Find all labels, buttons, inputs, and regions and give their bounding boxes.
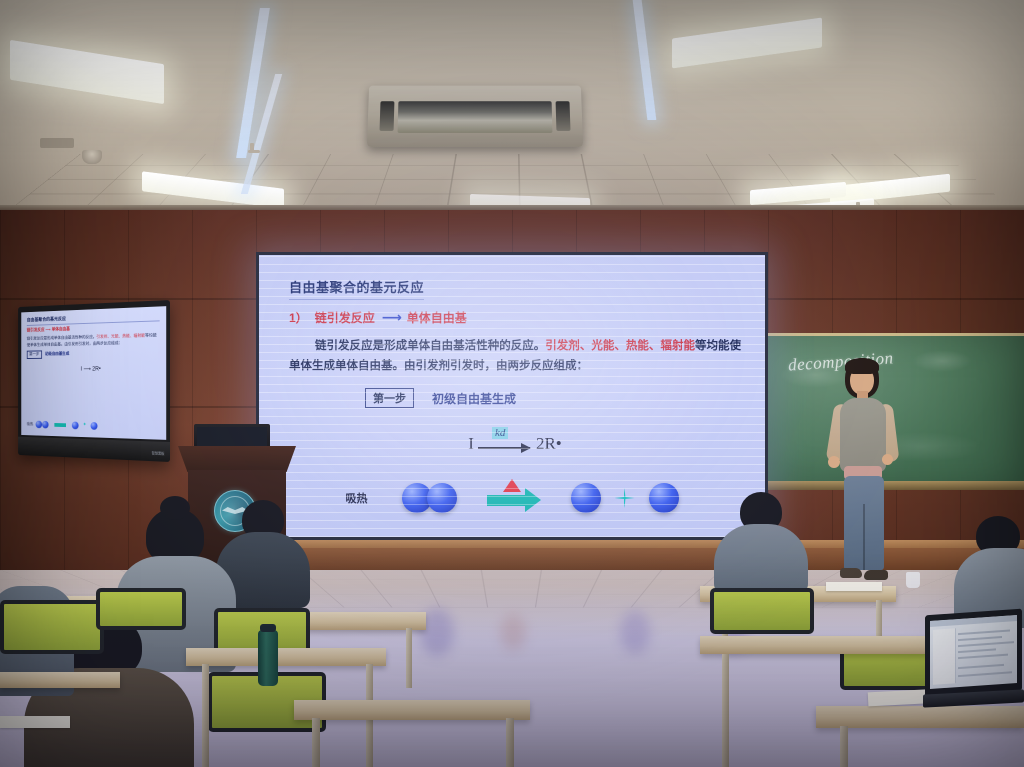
body-highlight-radiation-energy: 辐射能 xyxy=(660,340,695,352)
chair-back xyxy=(96,588,186,630)
ceiling-light-panel xyxy=(672,17,822,68)
sparkle-icon: ✦ xyxy=(83,422,87,429)
classroom-chair[interactable] xyxy=(0,600,104,654)
slide-step-row: 第一步 初级自由基生成 xyxy=(289,388,741,408)
laptop-content-line xyxy=(958,654,1008,659)
chair-back xyxy=(710,588,814,634)
hair-fringe xyxy=(845,358,879,374)
sweater-vest xyxy=(840,398,886,472)
student-desk xyxy=(816,706,1024,728)
teal-arrow-icon xyxy=(54,423,66,427)
subheading-number: 1） xyxy=(289,309,308,326)
lecturer xyxy=(826,358,902,590)
ac-side-vent xyxy=(556,101,571,131)
paper-sheet xyxy=(0,716,70,728)
torso xyxy=(714,524,808,594)
sprinkler-head xyxy=(248,150,260,153)
monitor-step-title: 初级自由基生成 xyxy=(45,351,69,357)
floor-reflection xyxy=(500,614,526,650)
desk-leg xyxy=(202,664,209,767)
molecule-sphere-icon xyxy=(42,421,49,429)
left-hand xyxy=(828,456,840,468)
thermos-cap xyxy=(260,624,276,632)
slide-animation-strip: 吸热 xyxy=(259,481,765,515)
molecule-sphere-icon xyxy=(427,483,457,513)
laptop-screen[interactable] xyxy=(930,615,1017,689)
body-text-a: 链引发反应是形成单体自由基活性种的反应。 xyxy=(315,340,545,352)
chair-back xyxy=(0,600,104,654)
laptop-content-line xyxy=(958,629,1010,635)
podium-monitor-screen xyxy=(197,427,267,449)
projection-screen: 自由基聚合的基元反应 1） 链引发反应 ⟶ 单体自由基 链引发反应是形成单体自由… xyxy=(256,252,768,540)
desk-leg xyxy=(406,628,412,688)
slide-body-paragraph: 链引发反应是形成单体自由基活性种的反应。引发剂、光能、热能、辐射能等均能使单体生… xyxy=(289,336,741,376)
body-separator: 、 xyxy=(614,340,626,352)
subheading-left: 链引发反应 xyxy=(315,309,375,326)
ac-side-vent xyxy=(380,101,395,131)
monitor-step-row: 第一步 初级自由基生成 xyxy=(27,348,160,358)
teal-arrow-icon xyxy=(487,495,527,506)
slide-subheading: 1） 链引发反应 ⟶ 单体自由基 xyxy=(289,309,741,326)
hair-bun xyxy=(160,496,190,520)
student-center-right xyxy=(712,492,808,592)
smart-board-brand: 智慧黑板 xyxy=(152,450,165,455)
radical-sphere-icon xyxy=(72,422,79,430)
desk-leg xyxy=(506,718,514,767)
desk-leg xyxy=(840,726,848,767)
desk-leg xyxy=(312,718,320,767)
teal-arrow-head-icon xyxy=(525,488,541,512)
step-title: 初级自由基生成 xyxy=(432,390,516,407)
sparkle-icon xyxy=(615,488,635,508)
equation-reactant: I xyxy=(468,434,474,454)
slide-content: 自由基聚合的基元反应 1） 链引发反应 ⟶ 单体自由基 链引发反应是形成单体自由… xyxy=(259,255,765,537)
floor-reflection xyxy=(620,610,650,654)
thermos-bottle[interactable] xyxy=(258,630,278,686)
ceiling-light-tube xyxy=(633,0,657,120)
delta-triangle-icon xyxy=(503,479,521,492)
student-desk xyxy=(700,636,930,654)
monitor-endothermic-label: 吸热 xyxy=(27,421,33,427)
left-shoe xyxy=(840,568,862,578)
ac-main-vent xyxy=(398,101,553,133)
laptop-lid xyxy=(925,609,1022,698)
classroom-chair[interactable] xyxy=(96,588,186,630)
body-highlight-light-energy: 光能 xyxy=(591,340,614,352)
radical-sphere-icon xyxy=(649,483,679,513)
classroom-scene: decomposition 自由基聚合的基元反应 1） 链引发反应 ⟶ 单体自由… xyxy=(0,0,1024,767)
right-shoe xyxy=(864,570,888,580)
subheading-right: 单体自由基 xyxy=(407,309,467,326)
student-desk xyxy=(0,672,120,688)
projected-slide: 自由基聚合的基元反应 1） 链引发反应 ⟶ 单体自由基 链引发反应是形成单体自由… xyxy=(259,255,765,537)
chemical-equation: I kd 2R• xyxy=(289,428,741,454)
laptop-content-line xyxy=(958,636,1002,641)
monitor-body-highlight: 引发剂、光能、热能、辐射能 xyxy=(96,333,145,339)
smart-board-screen: 自由基聚合的基元反应 链引发反应 ⟶ 单体自由基 链引发反应是形成单体自由基活性… xyxy=(21,306,166,440)
equation-arrow-group: kd xyxy=(478,428,532,454)
heat-arrow-group xyxy=(479,481,549,515)
laptop-content-line xyxy=(958,641,1014,647)
body-separator: 、 xyxy=(580,340,592,352)
chalk-smudge xyxy=(912,350,972,372)
interactive-smart-board[interactable]: 自由基聚合的基元反应 链引发反应 ⟶ 单体自由基 链引发反应是形成单体自由基活性… xyxy=(18,300,170,462)
reaction-arrow-icon xyxy=(478,447,530,449)
air-conditioner-unit xyxy=(367,86,583,147)
paper-sheet xyxy=(826,582,882,591)
laptop[interactable] xyxy=(925,612,1024,708)
right-hand xyxy=(882,454,893,465)
student-desk xyxy=(186,648,386,666)
ceiling-light-tube xyxy=(236,8,270,158)
leg-separation xyxy=(863,504,865,570)
ceiling-light-panel xyxy=(10,40,164,104)
podium-top xyxy=(178,446,296,472)
monitor-step-box: 第一步 xyxy=(27,351,42,359)
laptop-content-line xyxy=(958,664,1004,669)
step-number-box: 第一步 xyxy=(365,388,414,408)
radical-sphere-icon xyxy=(91,422,98,430)
monitor-body: 链引发反应是形成单体自由基活性种的反应。引发剂、光能、热能、辐射能等均能使单体生… xyxy=(27,333,160,349)
body-highlight-initiator: 引发剂 xyxy=(545,340,580,352)
equation-product: 2R• xyxy=(536,434,562,454)
right-arrow-icon: ⟶ xyxy=(382,309,400,326)
ceiling-speaker xyxy=(82,150,102,164)
ceiling-vent xyxy=(40,138,74,148)
laptop-sidebar-panel xyxy=(933,628,956,685)
monitor-equation: I ⟶ 2R• xyxy=(27,365,160,375)
desk-leg xyxy=(722,654,729,767)
body-separator: 、 xyxy=(649,340,661,352)
monitor-animation-strip: 吸热 ✦ xyxy=(27,420,98,429)
laptop-content-line xyxy=(958,648,996,653)
laptop-window-titlebar xyxy=(930,615,1017,627)
radical-sphere-icon xyxy=(571,483,601,513)
body-highlight-heat-energy: 热能 xyxy=(626,340,649,352)
drinking-cup xyxy=(906,572,920,588)
slide-title: 自由基聚合的基元反应 xyxy=(289,277,424,300)
rate-constant-label: kd xyxy=(492,427,508,439)
student-desk xyxy=(294,700,530,720)
laptop-content-line xyxy=(958,671,1012,677)
endothermic-label: 吸热 xyxy=(346,490,368,506)
classroom-chair[interactable] xyxy=(710,588,814,634)
